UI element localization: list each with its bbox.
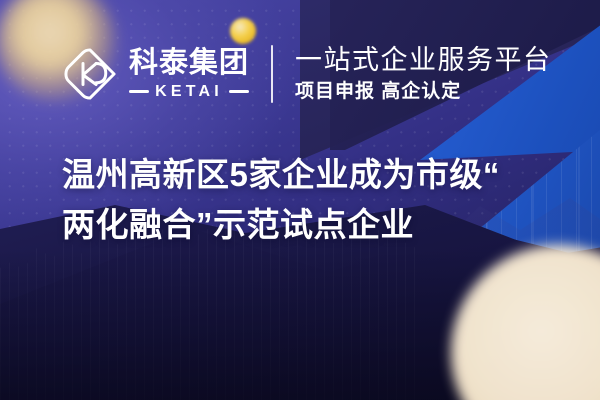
brand-logo: 科泰集团 KETAI	[62, 46, 249, 102]
brand-name-cn: 科泰集团	[129, 49, 249, 78]
headline-line-2: 两化融合”示范试点企业	[62, 200, 562, 250]
bottom-vignette	[0, 250, 600, 400]
brand-name-en-row: KETAI	[129, 84, 249, 100]
headline: 温州高新区5家企业成为市级“ 两化融合”示范试点企业	[62, 150, 562, 250]
tagline-main: 一站式企业服务平台	[295, 45, 552, 75]
vertical-divider	[271, 45, 273, 103]
banner-header: 科泰集团 KETAI 一站式企业服务平台 项目申报 高企认定	[0, 38, 600, 110]
headline-line-1: 温州高新区5家企业成为市级“	[62, 150, 562, 200]
wordmark-rule-right	[229, 90, 249, 93]
wordmark-rule-left	[129, 90, 149, 93]
banner-image: 科泰集团 KETAI 一站式企业服务平台 项目申报 高企认定 温州高新区5家企业…	[0, 0, 600, 400]
tagline-sub: 项目申报 高企认定	[295, 81, 552, 103]
tagline-block: 一站式企业服务平台 项目申报 高企认定	[295, 45, 552, 102]
brand-name-en: KETAI	[155, 84, 223, 100]
ketai-diamond-monogram-icon	[62, 46, 118, 102]
brand-wordmark: 科泰集团 KETAI	[129, 49, 249, 100]
